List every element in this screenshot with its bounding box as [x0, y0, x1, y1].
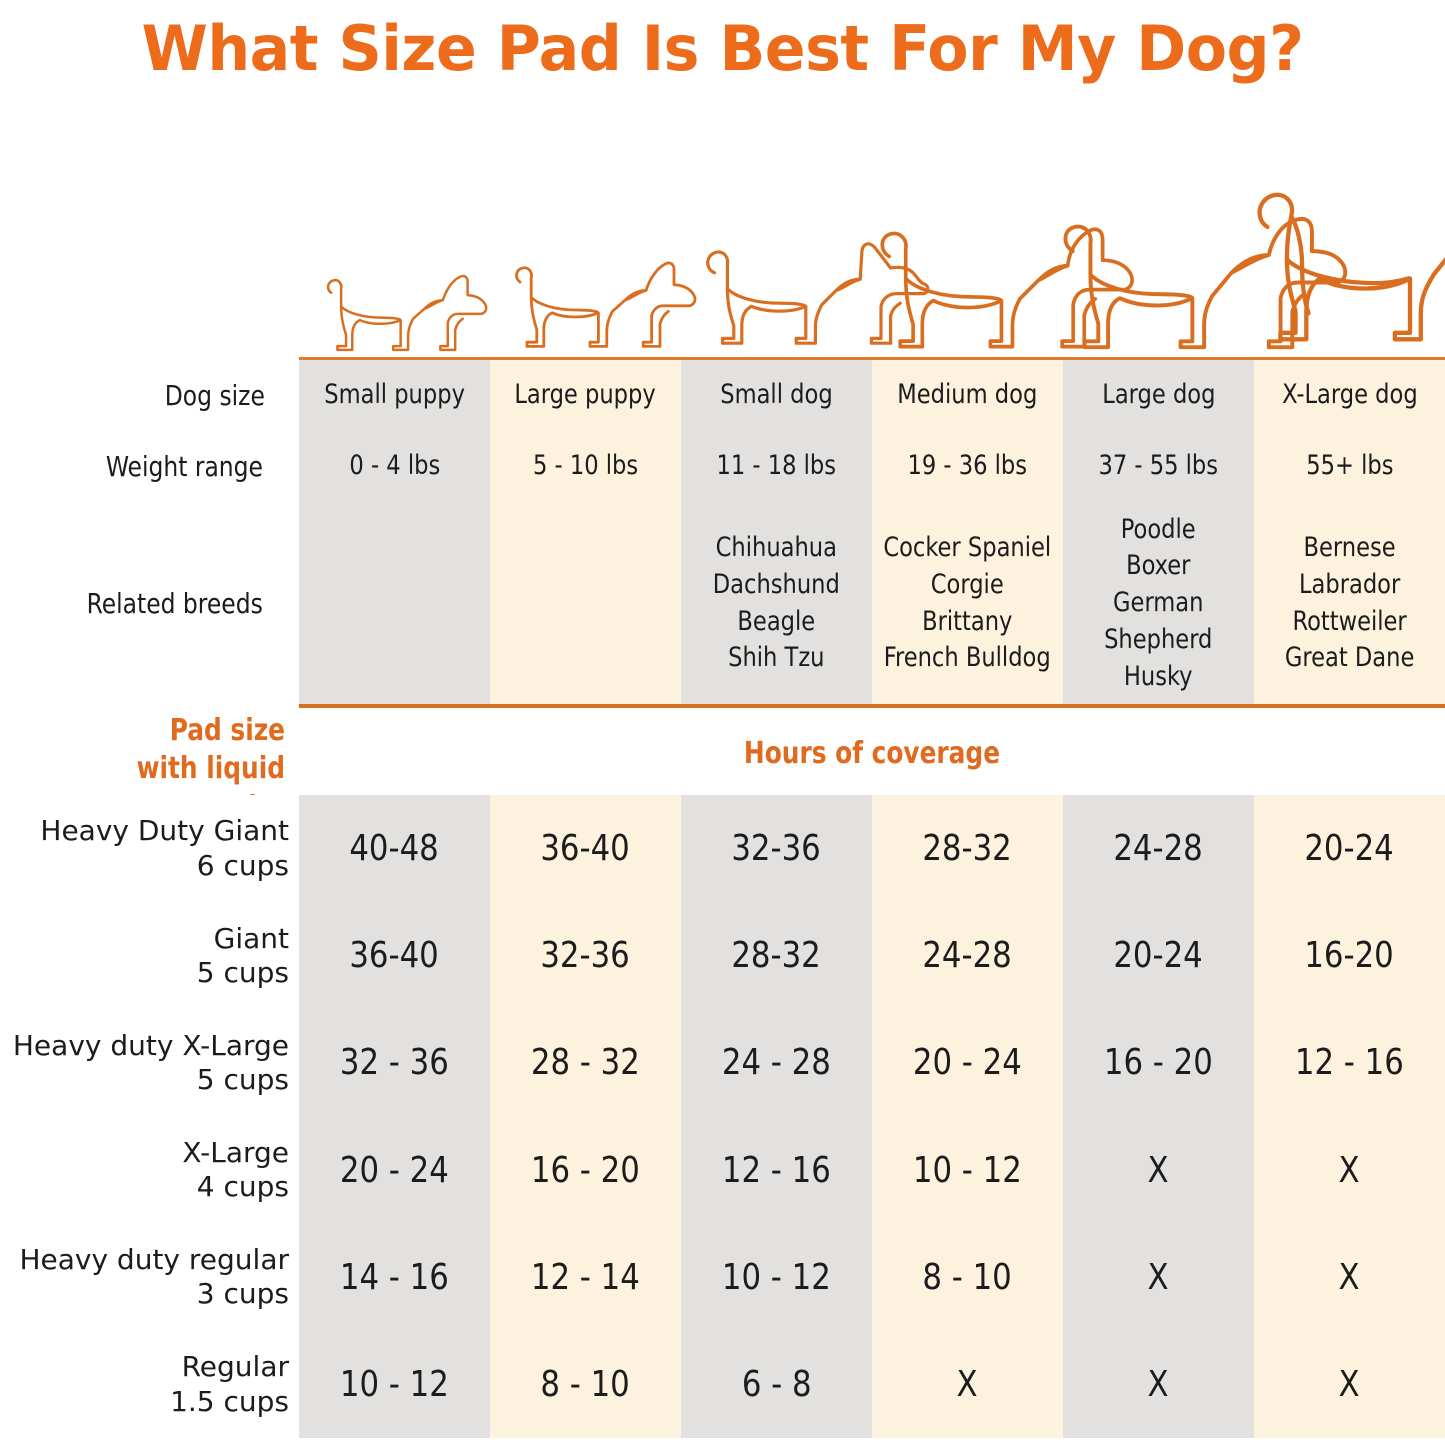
table-row-weight-range: Weight range 0 - 4 lbs 5 - 10 lbs 11 - 1… [0, 430, 1445, 502]
cell-breeds-medium-dog: Cocker SpanielCorgieBrittanyFrench Bulld… [872, 502, 1063, 705]
cell-hours: 32-36 [681, 795, 872, 902]
cell-hours: 6 - 8 [681, 1331, 872, 1438]
cell-hours: 28-32 [872, 795, 1063, 902]
cell-hours: 12 - 16 [1254, 1009, 1445, 1116]
cell-hours: 36-40 [299, 902, 490, 1009]
pad-name: Regular [182, 1350, 289, 1384]
cell-hours: X [872, 1331, 1063, 1438]
cell-hours: 12 - 14 [490, 1224, 681, 1331]
cell-weight-large-dog: 37 - 55 lbs [1063, 430, 1254, 502]
cell-weight-large-puppy: 5 - 10 lbs [490, 430, 681, 502]
cell-breeds-large-puppy [490, 502, 681, 705]
table-row: Heavy Duty Giant 6 cups 40-48 36-40 32-3… [0, 795, 1445, 902]
table-row: Regular 1.5 cups 10 - 12 8 - 10 6 - 8 X … [0, 1331, 1445, 1438]
pad-capacity: 4 cups [197, 1170, 289, 1204]
pad-size-header: Pad size with liquid capacity Hours of c… [0, 712, 1445, 794]
cell-hours: 16 - 20 [1063, 1009, 1254, 1116]
cell-hours: X [1254, 1224, 1445, 1331]
cell-hours: 32-36 [490, 902, 681, 1009]
pad-size-coverage-table: Heavy Duty Giant 6 cups 40-48 36-40 32-3… [0, 795, 1445, 1438]
row-label-dog-size: Dog size [0, 360, 299, 430]
cell-hours: 20-24 [1254, 795, 1445, 902]
cell-hours: 16-20 [1254, 902, 1445, 1009]
cell-dog-size-medium-dog: Medium dog [872, 360, 1063, 430]
xlarge-dog-silhouette [1260, 164, 1445, 340]
cell-hours: X [1063, 1117, 1254, 1224]
cell-hours: 8 - 10 [872, 1224, 1063, 1331]
cell-hours: 20-24 [1063, 902, 1254, 1009]
cell-weight-small-dog: 11 - 18 lbs [681, 430, 872, 502]
cell-breeds-large-dog: PoodleBoxerGermanShepherdHusky [1063, 502, 1254, 705]
cell-hours: 10 - 12 [872, 1117, 1063, 1224]
small-puppy-silhouette [328, 276, 486, 350]
pad-name: Heavy duty X-Large [13, 1029, 289, 1063]
table-divider-rule [299, 704, 1445, 708]
cell-dog-size-large-puppy: Large puppy [490, 360, 681, 430]
row-label-heavy-duty-xlarge: Heavy duty X-Large 5 cups [0, 1009, 299, 1116]
row-label-related-breeds: Related breeds [0, 502, 299, 705]
table-row: Heavy duty X-Large 5 cups 32 - 36 28 - 3… [0, 1009, 1445, 1116]
cell-weight-medium-dog: 19 - 36 lbs [872, 430, 1063, 502]
pad-name: Heavy duty regular [19, 1243, 289, 1277]
page-title: What Size Pad Is Best For My Dog? [22, 0, 1424, 96]
pad-capacity: 5 cups [197, 1063, 289, 1097]
cell-hours: 10 - 12 [681, 1224, 872, 1331]
cell-breeds-xlarge-dog: BerneseLabradorRottweilerGreat Dane [1254, 502, 1445, 705]
hours-of-coverage-label: Hours of coverage [299, 736, 1445, 771]
pad-capacity: 1.5 cups [170, 1385, 289, 1419]
table-row-related-breeds: Related breeds ChihuahuaDachshundBeagleS… [0, 502, 1445, 705]
row-label-heavy-duty-regular: Heavy duty regular 3 cups [0, 1224, 299, 1331]
table-row: Heavy duty regular 3 cups 14 - 16 12 - 1… [0, 1224, 1445, 1331]
table-row: X-Large 4 cups 20 - 24 16 - 20 12 - 16 1… [0, 1117, 1445, 1224]
cell-hours: 10 - 12 [299, 1331, 490, 1438]
table-row-dog-size: Dog size Small puppy Large puppy Small d… [0, 360, 1445, 430]
dog-size-table: Dog size Small puppy Large puppy Small d… [0, 360, 1445, 705]
row-label-heavy-duty-giant: Heavy Duty Giant 6 cups [0, 795, 299, 902]
cell-hours: X [1063, 1331, 1254, 1438]
cell-hours: 24 - 28 [681, 1009, 872, 1116]
pad-name: Heavy Duty Giant [40, 814, 289, 848]
large-puppy-silhouette [517, 263, 695, 346]
pad-name: X-Large [182, 1136, 289, 1170]
cell-dog-size-small-puppy: Small puppy [299, 360, 490, 430]
row-label-xlarge: X-Large 4 cups [0, 1117, 299, 1224]
cell-dog-size-small-dog: Small dog [681, 360, 872, 430]
pad-name: Giant [214, 922, 289, 956]
cell-hours: 14 - 16 [299, 1224, 490, 1331]
small-dog-silhouette [708, 244, 928, 343]
row-label-regular: Regular 1.5 cups [0, 1331, 299, 1438]
cell-hours: X [1063, 1224, 1254, 1331]
cell-breeds-small-dog: ChihuahuaDachshundBeagleShih Tzu [681, 502, 872, 705]
cell-dog-size-xlarge-dog: X-Large dog [1254, 360, 1445, 430]
cell-hours: 8 - 10 [490, 1331, 681, 1438]
medium-dog-silhouette [882, 229, 1132, 346]
cell-hours: X [1254, 1331, 1445, 1438]
cell-dog-size-large-dog: Large dog [1063, 360, 1254, 430]
pad-capacity: 5 cups [197, 956, 289, 990]
cell-hours: 24-28 [1063, 795, 1254, 902]
cell-weight-xlarge-dog: 55+ lbs [1254, 430, 1445, 502]
pad-capacity: 6 cups [197, 849, 289, 883]
cell-hours: 40-48 [299, 795, 490, 902]
cell-hours: 28-32 [681, 902, 872, 1009]
pad-capacity: 3 cups [197, 1277, 289, 1311]
cell-hours: 28 - 32 [490, 1009, 681, 1116]
cell-breeds-small-puppy [299, 502, 490, 705]
cell-hours: 20 - 24 [872, 1009, 1063, 1116]
row-label-giant: Giant 5 cups [0, 902, 299, 1009]
cell-hours: 32 - 36 [299, 1009, 490, 1116]
cell-hours: X [1254, 1117, 1445, 1224]
cell-hours: 12 - 16 [681, 1117, 872, 1224]
cell-hours: 16 - 20 [490, 1117, 681, 1224]
cell-weight-small-puppy: 0 - 4 lbs [299, 430, 490, 502]
dog-silhouettes-strip [0, 150, 1445, 360]
row-label-weight-range: Weight range [0, 430, 299, 502]
cell-hours: 20 - 24 [299, 1117, 490, 1224]
table-row: Giant 5 cups 36-40 32-36 28-32 24-28 20-… [0, 902, 1445, 1009]
cell-hours: 24-28 [872, 902, 1063, 1009]
cell-hours: 36-40 [490, 795, 681, 902]
